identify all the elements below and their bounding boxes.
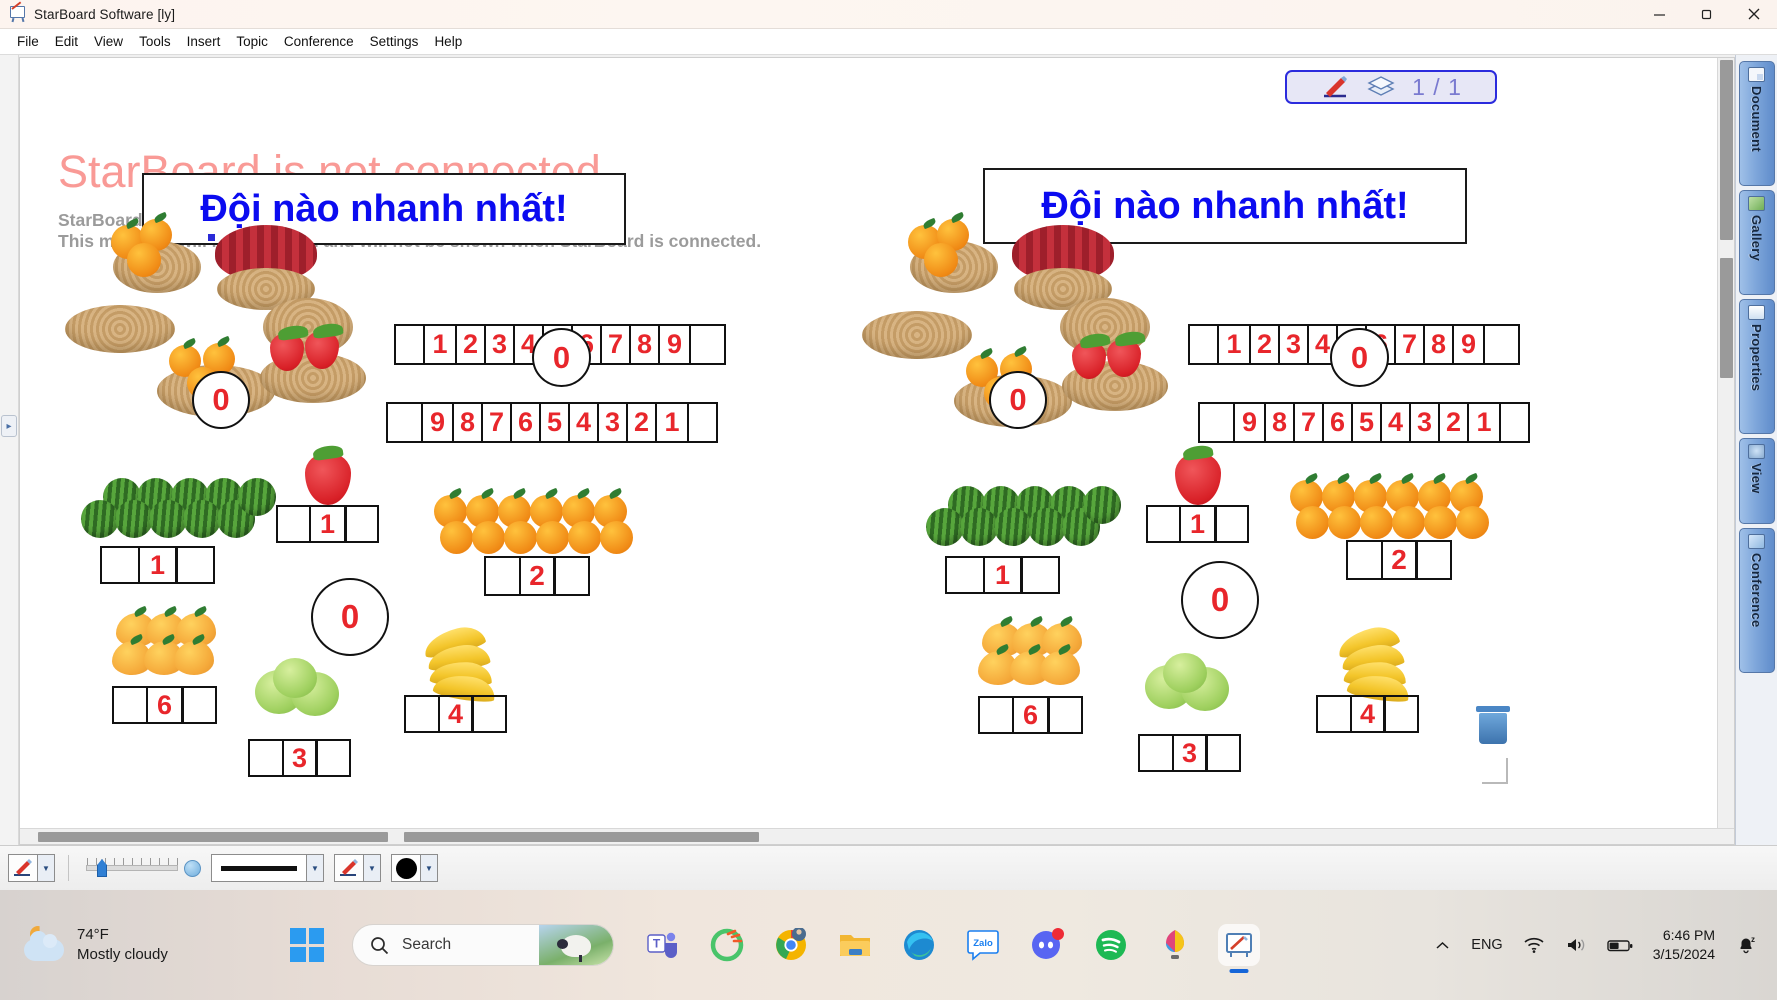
sidebar-tab-gallery[interactable]: Gallery xyxy=(1739,190,1775,295)
answer-orange-right[interactable]: 2 xyxy=(1346,540,1452,580)
numcell[interactable] xyxy=(394,324,425,365)
pen-tool-icon[interactable] xyxy=(8,854,38,882)
basket-empty-1 xyxy=(862,311,972,359)
answer-cell[interactable] xyxy=(100,546,140,584)
answer-cell[interactable] xyxy=(484,556,521,596)
answer-cell[interactable]: 1 xyxy=(983,556,1023,594)
banana-group-right xyxy=(1338,633,1424,691)
left-rail: ▸ xyxy=(0,55,19,845)
answer-cell[interactable]: 4 xyxy=(438,695,474,733)
view-icon xyxy=(1748,444,1765,459)
numcell[interactable]: 8 xyxy=(1264,402,1295,443)
horizontal-scrollbar[interactable] xyxy=(20,828,1734,844)
answer-cell[interactable]: 4 xyxy=(1350,695,1386,733)
answer-banana-left[interactable]: 4 xyxy=(404,695,507,733)
vertical-scroll-thumb[interactable] xyxy=(1720,60,1733,240)
answer-cell[interactable] xyxy=(1146,505,1181,543)
svg-text:Zalo: Zalo xyxy=(973,938,993,949)
answer-mango-left[interactable]: 6 xyxy=(112,686,217,724)
clock-date: 3/15/2024 xyxy=(1653,945,1715,964)
page-indicator[interactable]: 1 / 1 xyxy=(1285,70,1497,104)
whiteboard-canvas-container[interactable]: 1 / 1 StarBoard is not connected StarBoa… xyxy=(19,57,1735,845)
answer-cell[interactable] xyxy=(344,505,379,543)
answer-cell[interactable]: 1 xyxy=(309,505,347,543)
menu-item-view[interactable]: View xyxy=(86,31,131,52)
answer-strawberry-left[interactable]: 1 xyxy=(276,505,379,543)
zero-circle-left-basket[interactable]: 0 xyxy=(192,371,250,429)
numcell[interactable]: 5 xyxy=(539,402,570,443)
volume-icon[interactable] xyxy=(1565,936,1587,954)
answer-cell[interactable]: 6 xyxy=(146,686,184,724)
expand-panel-handle[interactable]: ▸ xyxy=(1,415,17,437)
taskbar-app-paint[interactable] xyxy=(1154,924,1196,966)
battery-icon[interactable] xyxy=(1607,938,1633,953)
answer-cell[interactable] xyxy=(1138,734,1174,772)
weather-description: Mostly cloudy xyxy=(77,945,168,965)
answer-cell[interactable] xyxy=(404,695,440,733)
answer-cell[interactable] xyxy=(471,695,507,733)
windows-taskbar: 74°F Mostly cloudy Search T xyxy=(0,890,1777,1000)
answer-watermelon-right[interactable]: 1 xyxy=(945,556,1060,594)
taskbar-app-starboard[interactable] xyxy=(1218,924,1260,966)
color-swatch[interactable] xyxy=(391,854,421,882)
answer-cell[interactable]: 1 xyxy=(138,546,178,584)
answer-cell[interactable] xyxy=(181,686,217,724)
zero-circle-mid-right[interactable]: 0 xyxy=(1181,561,1259,639)
pen-style-group[interactable]: ▼ xyxy=(334,854,381,882)
answer-cell[interactable] xyxy=(1020,556,1060,594)
workspace: ▸ 1 / 1 StarBoard is not connected StarB… xyxy=(0,55,1777,845)
answer-cell[interactable] xyxy=(1316,695,1352,733)
answer-orange-left[interactable]: 2 xyxy=(484,556,590,596)
menu-item-edit[interactable]: Edit xyxy=(47,31,86,52)
taskbar-app-spotify[interactable] xyxy=(1090,924,1132,966)
menu-item-settings[interactable]: Settings xyxy=(362,31,427,52)
zero-circle-top-right[interactable]: 0 xyxy=(1330,328,1389,387)
properties-icon xyxy=(1748,305,1765,320)
numcell[interactable] xyxy=(1198,402,1235,443)
numcell[interactable]: 8 xyxy=(1423,324,1454,365)
taskbar-center: Search T xyxy=(290,924,1434,966)
answer-cell[interactable]: 2 xyxy=(519,556,556,596)
answer-cell[interactable] xyxy=(1346,540,1383,580)
thickness-preview-dot xyxy=(184,860,201,877)
document-icon xyxy=(1748,67,1765,82)
answer-cell[interactable]: 6 xyxy=(1012,696,1050,734)
answer-cell[interactable]: 2 xyxy=(1381,540,1418,580)
numcell[interactable]: 2 xyxy=(1249,324,1280,365)
menu-bar: File Edit View Tools Insert Topic Confer… xyxy=(0,29,1777,55)
numcell[interactable] xyxy=(687,402,718,443)
taskbar-app-teams[interactable]: T xyxy=(642,924,684,966)
sidebar-tab-label: Conference xyxy=(1749,553,1764,628)
line-style-chevron-down-icon[interactable]: ▼ xyxy=(307,854,324,882)
notification-bell-icon[interactable]: z xyxy=(1735,934,1757,956)
descending-number-row-right[interactable]: 9 8 7 6 5 4 3 2 1 xyxy=(1198,402,1530,443)
chevron-up-icon[interactable] xyxy=(1434,939,1451,952)
close-button[interactable] xyxy=(1730,0,1777,29)
answer-coconut-right[interactable]: 3 xyxy=(1138,734,1241,772)
numcell[interactable]: 3 xyxy=(597,402,628,443)
descending-number-row-left[interactable]: 9 8 7 6 5 4 3 2 1 xyxy=(386,402,718,443)
thickness-slider-track[interactable] xyxy=(86,865,178,871)
answer-coconut-left[interactable]: 3 xyxy=(248,739,351,777)
answer-cell[interactable]: 3 xyxy=(1172,734,1208,772)
search-placeholder: Search xyxy=(402,936,451,954)
answer-cell[interactable] xyxy=(553,556,590,596)
sidebar-tab-document[interactable]: Document xyxy=(1739,61,1775,186)
line-style-group[interactable]: ▼ xyxy=(211,854,324,882)
whiteboard-canvas[interactable]: 1 / 1 StarBoard is not connected StarBoa… xyxy=(20,58,1734,844)
title-bar: StarBoard Software [ly] xyxy=(0,0,1777,29)
numcell[interactable]: 1 xyxy=(1467,402,1501,443)
answer-cell[interactable] xyxy=(175,546,215,584)
numcell[interactable]: 6 xyxy=(510,402,541,443)
numcell[interactable]: 7 xyxy=(481,402,512,443)
answer-cell[interactable]: 1 xyxy=(1179,505,1217,543)
numcell[interactable]: 7 xyxy=(1394,324,1425,365)
answer-cell[interactable] xyxy=(1205,734,1241,772)
sidebar-tab-label: View xyxy=(1749,463,1764,494)
numcell[interactable]: 8 xyxy=(452,402,483,443)
language-indicator[interactable]: ENG xyxy=(1471,937,1502,953)
answer-cell[interactable] xyxy=(248,739,284,777)
numcell[interactable]: 7 xyxy=(600,324,631,365)
weather-widget[interactable]: 74°F Mostly cloudy xyxy=(0,925,290,966)
horizontal-scroll-thumb-2[interactable] xyxy=(404,832,759,842)
trash-icon[interactable] xyxy=(1476,706,1510,744)
zero-circle-mid-left[interactable]: 0 xyxy=(311,578,389,656)
vertical-scrollbar[interactable] xyxy=(1717,58,1734,844)
menu-item-help[interactable]: Help xyxy=(426,31,470,52)
numcell[interactable]: 9 xyxy=(1233,402,1266,443)
taskbar-app-clickup[interactable] xyxy=(706,924,748,966)
taskbar-app-discord[interactable] xyxy=(1026,924,1068,966)
answer-strawberry-right[interactable]: 1 xyxy=(1146,505,1249,543)
numcell[interactable]: 9 xyxy=(658,324,691,365)
numcell[interactable]: 3 xyxy=(484,324,515,365)
pen-icon xyxy=(1320,74,1350,100)
numcell[interactable]: 3 xyxy=(1409,402,1440,443)
pen-style-chevron-down-icon[interactable]: ▼ xyxy=(364,854,381,882)
numcell[interactable]: 9 xyxy=(421,402,454,443)
toolbar-divider xyxy=(68,855,69,881)
taskbar-app-zalo[interactable]: Zalo xyxy=(962,924,1004,966)
watermelon-group-right xyxy=(920,486,1105,566)
gallery-icon xyxy=(1748,196,1765,211)
weather-temperature: 74°F xyxy=(77,925,168,945)
numcell[interactable]: 1 xyxy=(423,324,457,365)
thickness-slider[interactable] xyxy=(82,860,205,877)
vertical-scroll-thumb-2[interactable] xyxy=(1720,258,1733,378)
numcell[interactable]: 4 xyxy=(1380,402,1411,443)
answer-cell[interactable] xyxy=(276,505,311,543)
layers-icon xyxy=(1366,75,1396,99)
starboard-icon xyxy=(9,5,27,23)
sidebar-tab-properties[interactable]: Properties xyxy=(1739,299,1775,434)
pen-tool-group[interactable]: ▼ xyxy=(8,854,55,882)
menu-item-tools[interactable]: Tools xyxy=(131,31,179,52)
numcell[interactable] xyxy=(1499,402,1530,443)
taskbar-app-list: T xyxy=(642,924,1260,966)
numcell[interactable]: 7 xyxy=(1293,402,1324,443)
line-sample-stroke xyxy=(221,866,297,871)
coconut-group-left xyxy=(255,658,365,738)
numcell[interactable]: 1 xyxy=(655,402,689,443)
pen-tool-chevron-down-icon[interactable]: ▼ xyxy=(38,854,55,882)
taskbar-clock[interactable]: 6:46 PM 3/15/2024 xyxy=(1653,926,1715,964)
sidebar-tab-label: Properties xyxy=(1749,324,1764,391)
color-picker-group[interactable]: ▼ xyxy=(391,854,438,882)
line-style-sample[interactable] xyxy=(211,854,307,882)
answer-cell[interactable] xyxy=(112,686,148,724)
svg-text:T: T xyxy=(653,937,661,951)
minimize-button[interactable] xyxy=(1636,0,1683,29)
zero-circle-top-left[interactable]: 0 xyxy=(532,328,591,387)
sidebar-tab-conference[interactable]: Conference xyxy=(1739,528,1775,673)
wifi-icon[interactable] xyxy=(1523,936,1545,954)
right-sidebar: Document Gallery Properties View Confere… xyxy=(1735,55,1777,845)
answer-cell[interactable] xyxy=(315,739,351,777)
menu-item-conference[interactable]: Conference xyxy=(276,31,362,52)
numcell[interactable]: 9 xyxy=(1452,324,1485,365)
numcell[interactable]: 8 xyxy=(629,324,660,365)
system-tray: ENG 6:46 PM 3/15/2024 xyxy=(1434,926,1777,964)
moon-cloud-icon xyxy=(22,926,66,964)
answer-cell[interactable] xyxy=(945,556,985,594)
menu-item-file[interactable]: File xyxy=(9,31,47,52)
strawberry-single-right xyxy=(1175,453,1221,505)
answer-cell[interactable] xyxy=(1383,695,1419,733)
resize-corner-handle[interactable] xyxy=(1482,758,1508,784)
taskbar-app-edge[interactable] xyxy=(898,924,940,966)
answer-watermelon-left[interactable]: 1 xyxy=(100,546,215,584)
numcell[interactable] xyxy=(1483,324,1520,365)
clock-time: 6:46 PM xyxy=(1653,926,1715,945)
numcell[interactable] xyxy=(1188,324,1219,365)
answer-cell[interactable] xyxy=(978,696,1014,734)
pen-tool-icon-2[interactable] xyxy=(334,854,364,882)
weather-text: 74°F Mostly cloudy xyxy=(77,925,168,966)
svg-text:z: z xyxy=(1751,935,1755,944)
answer-cell[interactable] xyxy=(1047,696,1083,734)
numcell[interactable]: 1 xyxy=(1217,324,1251,365)
taskbar-app-file-explorer[interactable] xyxy=(834,924,876,966)
basket-empty-1 xyxy=(65,305,175,353)
strawberry-single-left xyxy=(305,453,351,505)
menu-item-topic[interactable]: Topic xyxy=(228,31,276,52)
numcell[interactable]: 5 xyxy=(1351,402,1382,443)
answer-cell[interactable] xyxy=(1415,540,1452,580)
search-icon xyxy=(370,936,389,955)
sidebar-tab-view[interactable]: View xyxy=(1739,438,1775,524)
taskbar-search-box[interactable]: Search xyxy=(352,924,614,966)
sheep-widget-icon[interactable] xyxy=(539,925,613,966)
sidebar-tab-label: Gallery xyxy=(1749,215,1764,261)
taskbar-app-chrome[interactable] xyxy=(770,924,812,966)
answer-cell[interactable]: 3 xyxy=(282,739,318,777)
maximize-button[interactable] xyxy=(1683,0,1730,29)
coconut-group-right xyxy=(1145,653,1255,733)
zero-circle-right-basket[interactable]: 0 xyxy=(989,371,1047,429)
color-chevron-down-icon[interactable]: ▼ xyxy=(421,854,438,882)
windows-start-icon[interactable] xyxy=(290,928,324,962)
drawing-toolbar: ▼ ▼ ▼ ▼ xyxy=(0,845,1777,890)
sidebar-tab-label: Document xyxy=(1749,86,1764,152)
numcell[interactable]: 2 xyxy=(1438,402,1469,443)
banana-group-left xyxy=(424,633,510,691)
horizontal-scroll-thumb[interactable] xyxy=(38,832,388,842)
answer-mango-right[interactable]: 6 xyxy=(978,696,1083,734)
answer-cell[interactable] xyxy=(1214,505,1249,543)
numcell[interactable]: 6 xyxy=(1322,402,1353,443)
numcell[interactable]: 4 xyxy=(568,402,599,443)
window-title: StarBoard Software [ly] xyxy=(34,7,175,22)
numcell[interactable] xyxy=(689,324,726,365)
numcell[interactable]: 3 xyxy=(1278,324,1309,365)
answer-banana-right[interactable]: 4 xyxy=(1316,695,1419,733)
menu-item-insert[interactable]: Insert xyxy=(179,31,229,52)
conference-icon xyxy=(1748,534,1765,549)
numcell[interactable]: 2 xyxy=(455,324,486,365)
numcell[interactable]: 2 xyxy=(626,402,657,443)
page-indicator-label: 1 / 1 xyxy=(1412,74,1462,101)
numcell[interactable] xyxy=(386,402,423,443)
